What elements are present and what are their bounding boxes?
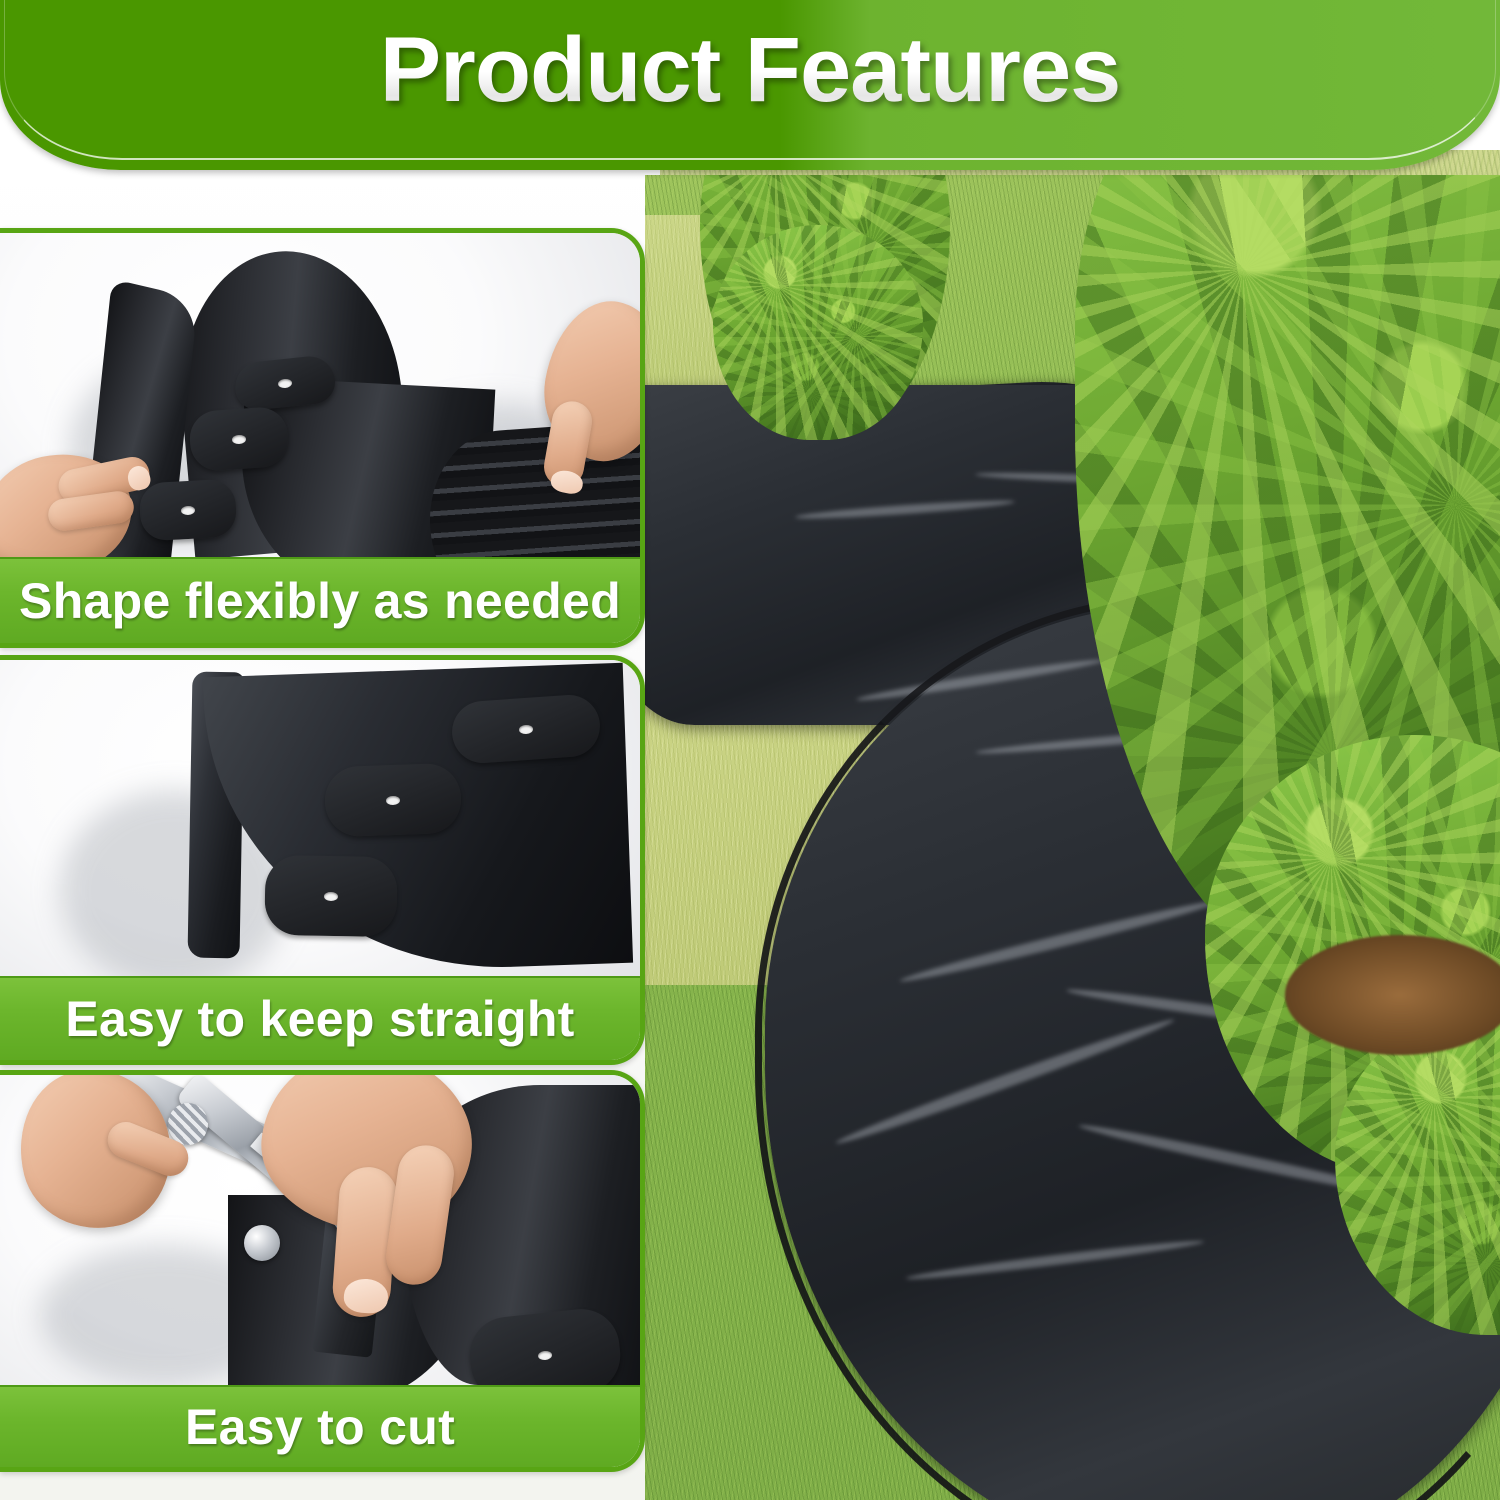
anchor-tab xyxy=(324,763,462,838)
feature-caption-bar: Easy to cut xyxy=(0,1385,640,1467)
shrub-top-left-lower xyxy=(713,225,923,440)
feature-caption-label: Easy to keep straight xyxy=(65,990,574,1048)
mulch-patch xyxy=(1285,935,1500,1055)
shear-pivot-bolt xyxy=(244,1225,280,1261)
anchor-tab xyxy=(264,855,397,937)
hero-garden-photo xyxy=(645,175,1500,1500)
feature-caption-bar: Shape flexibly as needed xyxy=(0,557,640,643)
feature-caption-label: Shape flexibly as needed xyxy=(19,572,621,630)
feature-card-shape-flexibly: Shape flexibly as needed xyxy=(0,228,645,648)
anchor-tab xyxy=(188,406,290,473)
anchor-tab xyxy=(139,479,238,542)
shear-spring xyxy=(168,1103,208,1145)
feature-caption-label: Easy to cut xyxy=(185,1398,455,1456)
feature-caption-bar: Easy to keep straight xyxy=(0,976,640,1060)
anchor-tab xyxy=(450,693,602,765)
poster-canvas: Product Features Sha xyxy=(0,0,1500,1500)
page-title: Product Features xyxy=(0,24,1500,116)
feature-card-keep-straight: Easy to keep straight xyxy=(0,655,645,1065)
feature-card-easy-to-cut: Easy to cut xyxy=(0,1070,645,1472)
